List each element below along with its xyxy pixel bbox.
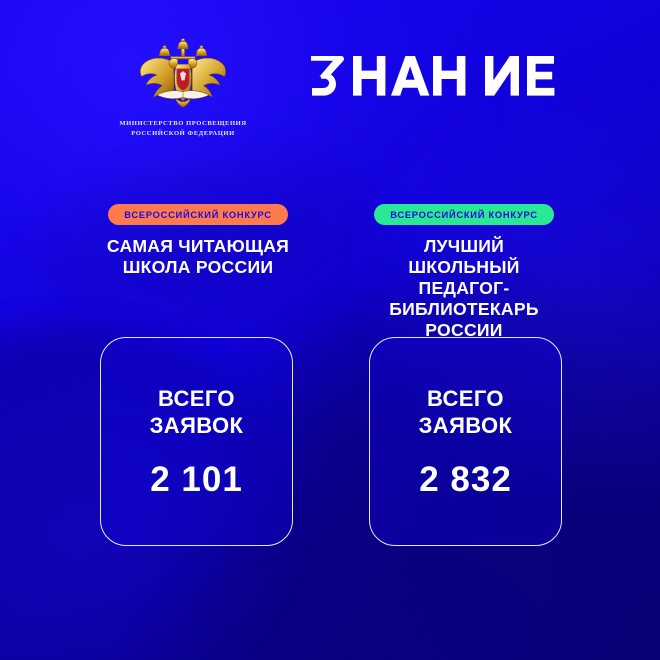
competition-column-reading-school: ВСЕРОССИЙСКИЙ КОНКУРС САМАЯ ЧИТАЮЩАЯ ШКО… (100, 204, 296, 342)
competition-columns: ВСЕРОССИЙСКИЙ КОНКУРС САМАЯ ЧИТАЮЩАЯ ШКО… (100, 204, 562, 342)
stat-card-label-total-applications-left: ВСЕГО ЗАЯВОК (150, 386, 244, 440)
status-badge-all-russian-contest-orange: ВСЕРОССИЙСКИЙ КОНКУРС (108, 204, 287, 225)
stat-card-reading-school: ВСЕГО ЗАЯВОК 2 101 (100, 337, 293, 546)
stat-card-school-librarian: ВСЕГО ЗАЯВОК 2 832 (369, 337, 562, 546)
znanie-logo (309, 36, 557, 96)
stat-card-value-total-applications-left: 2 101 (150, 462, 243, 497)
poster-canvas: МИНИСТЕРСТВО ПРОСВЕЩЕНИЯ РОССИЙСКОЙ ФЕДЕ… (0, 0, 660, 660)
status-badge-all-russian-contest-green: ВСЕРОССИЙСКИЙ КОНКУРС (374, 204, 553, 225)
competition-title-reading-school: САМАЯ ЧИТАЮЩАЯ ШКОЛА РОССИИ (100, 236, 296, 278)
badge-wrap-right: ВСЕРОССИЙСКИЙ КОНКУРС (366, 204, 562, 225)
znanie-wordmark-icon-tail (483, 52, 557, 96)
competition-title-school-librarian: ЛУЧШИЙ ШКОЛЬНЫЙ ПЕДАГОГ-БИБЛИОТЕКАРЬ РОС… (366, 236, 562, 342)
znanie-wordmark-icon (309, 52, 483, 96)
competition-column-school-librarian: ВСЕРОССИЙСКИЙ КОНКУРС ЛУЧШИЙ ШКОЛЬНЫЙ ПЕ… (366, 204, 562, 342)
badge-wrap-left: ВСЕРОССИЙСКИЙ КОНКУРС (100, 204, 296, 225)
stat-card-label-total-applications-right: ВСЕГО ЗАЯВОК (419, 386, 513, 440)
ministry-name: МИНИСТЕРСТВО ПРОСВЕЩЕНИЯ РОССИЙСКОЙ ФЕДЕ… (119, 119, 246, 138)
poster-content: МИНИСТЕРСТВО ПРОСВЕЩЕНИЯ РОССИЙСКОЙ ФЕДЕ… (0, 0, 660, 660)
stat-cards: ВСЕГО ЗАЯВОК 2 101 ВСЕГО ЗАЯВОК 2 832 (100, 337, 562, 546)
ministry-lockup: МИНИСТЕРСТВО ПРОСВЕЩЕНИЯ РОССИЙСКОЙ ФЕДЕ… (103, 36, 263, 138)
stat-card-value-total-applications-right: 2 832 (419, 462, 512, 497)
russian-coat-of-arms-eagle-icon (137, 38, 229, 112)
header: МИНИСТЕРСТВО ПРОСВЕЩЕНИЯ РОССИЙСКОЙ ФЕДЕ… (0, 36, 660, 138)
